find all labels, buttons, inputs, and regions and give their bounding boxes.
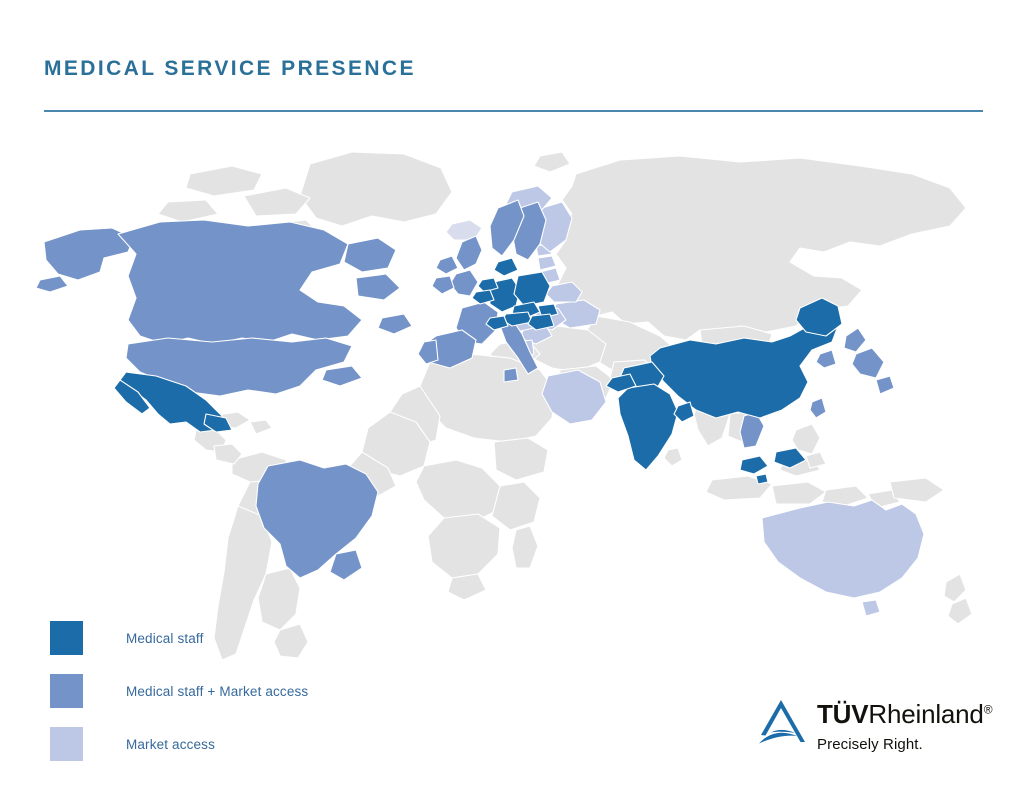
legend-item-medical-staff: Medical staff (50, 620, 308, 656)
page-title: MEDICAL SERVICE PRESENCE (44, 58, 984, 79)
title-divider (44, 110, 983, 112)
world-map-svg (0, 130, 1024, 670)
registered-trademark-icon: ® (984, 702, 993, 716)
map-legend: Medical staff Medical staff + Market acc… (50, 620, 308, 779)
header: MEDICAL SERVICE PRESENCE (44, 58, 984, 79)
legend-label-market-access: Market access (126, 737, 215, 752)
logo-wordmark: TÜVRheinland® (817, 701, 992, 727)
slide-canvas: MEDICAL SERVICE PRESENCE (0, 0, 1024, 799)
logo-brand-regular: Rheinland (868, 699, 983, 729)
logo-brand-bold: TÜV (817, 699, 868, 729)
legend-swatch-market-access (50, 727, 83, 761)
legend-swatch-medical-staff-market-access (50, 674, 83, 708)
logo-tagline: Precisely Right. (817, 736, 992, 753)
legend-item-market-access: Market access (50, 726, 308, 762)
legend-swatch-medical-staff (50, 621, 83, 655)
tuv-triangle-icon (753, 696, 809, 750)
logo-text-block: TÜVRheinland® Precisely Right. (817, 696, 992, 753)
world-map (0, 130, 1024, 670)
legend-label-medical-staff-market-access: Medical staff + Market access (126, 684, 308, 699)
legend-item-medical-staff-market-access: Medical staff + Market access (50, 673, 308, 709)
legend-label-medical-staff: Medical staff (126, 631, 204, 646)
tuv-rheinland-logo: TÜVRheinland® Precisely Right. (753, 696, 992, 753)
